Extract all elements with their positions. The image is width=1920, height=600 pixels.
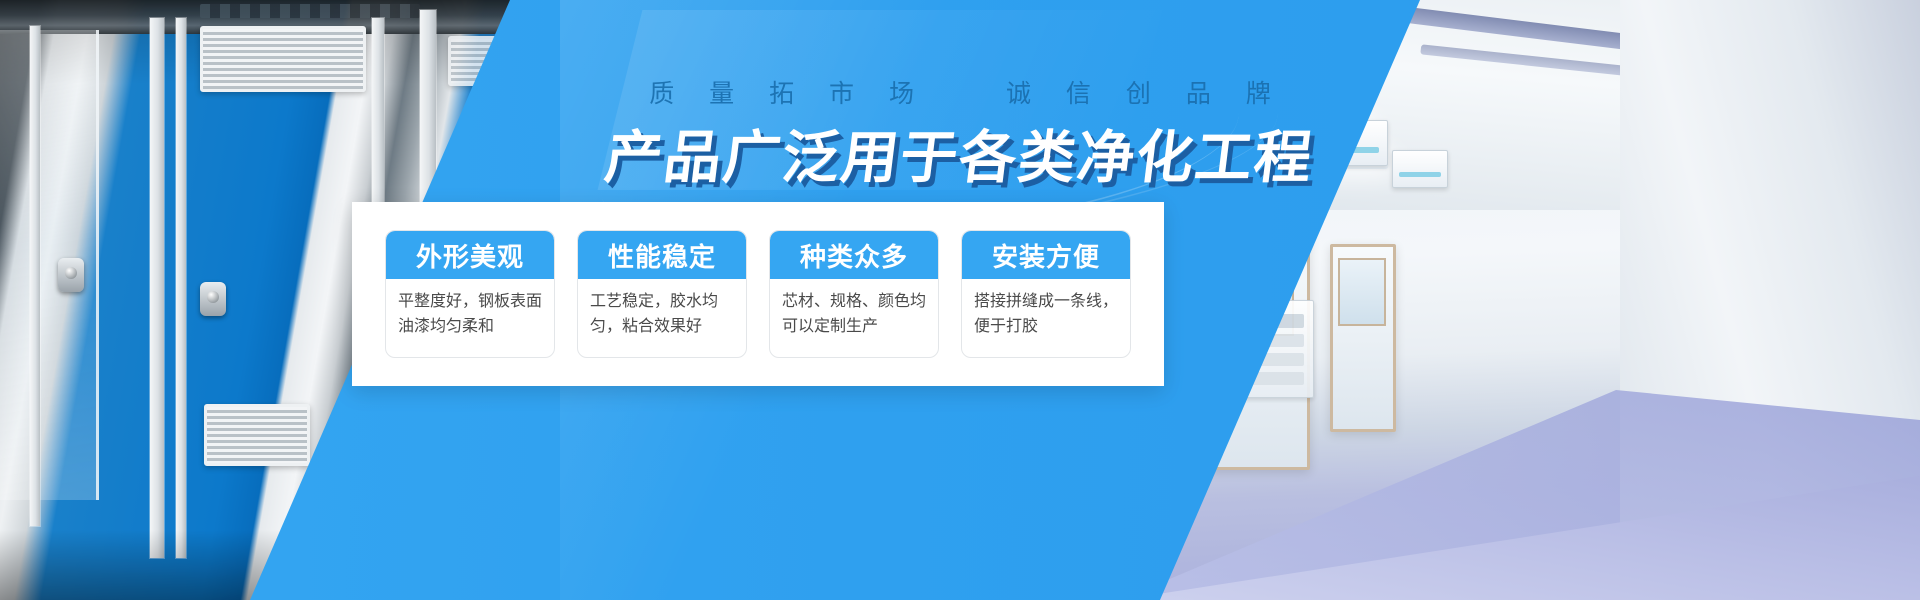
feature-card[interactable]: 安装方便 搭接拼缝成一条线，便于打胶: [961, 230, 1131, 358]
feature-card-body: 搭接拼缝成一条线，便于打胶: [962, 279, 1130, 357]
feature-card[interactable]: 外形美观 平整度好，钢板表面油漆均匀柔和: [385, 230, 555, 358]
feature-card-body: 平整度好，钢板表面油漆均匀柔和: [386, 279, 554, 357]
feature-cards-row: 外形美观 平整度好，钢板表面油漆均匀柔和 性能稳定 工艺稳定，胶水均匀，粘合效果…: [352, 202, 1164, 386]
cabin-louver-vent: [204, 404, 310, 466]
feature-card-body: 工艺稳定，胶水均匀，粘合效果好: [578, 279, 746, 357]
banner-subtitle: 质 量 拓 市 场 诚 信 创 品 牌: [0, 74, 1920, 110]
feature-cards-panel: 外形美观 平整度好，钢板表面油漆均匀柔和 性能稳定 工艺稳定，胶水均匀，粘合效果…: [352, 202, 1164, 386]
cabin-door-handle: [58, 258, 84, 292]
corridor-door-window: [1338, 258, 1386, 326]
cabin-door-handle: [200, 282, 226, 316]
banner-headline: 产品广泛用于各类净化工程: [0, 112, 1920, 194]
promo-banner: 质 量 拓 市 场 诚 信 创 品 牌 产品广泛用于各类净化工程 外形美观 平整…: [0, 0, 1920, 600]
feature-card-title: 性能稳定: [578, 231, 746, 279]
feature-card-title: 安装方便: [962, 231, 1130, 279]
feature-card-title: 外形美观: [386, 231, 554, 279]
feature-card-body: 芯材、规格、颜色均可以定制生产: [770, 279, 938, 357]
feature-card[interactable]: 性能稳定 工艺稳定，胶水均匀，粘合效果好: [577, 230, 747, 358]
feature-card[interactable]: 种类众多 芯材、规格、颜色均可以定制生产: [769, 230, 939, 358]
feature-card-title: 种类众多: [770, 231, 938, 279]
